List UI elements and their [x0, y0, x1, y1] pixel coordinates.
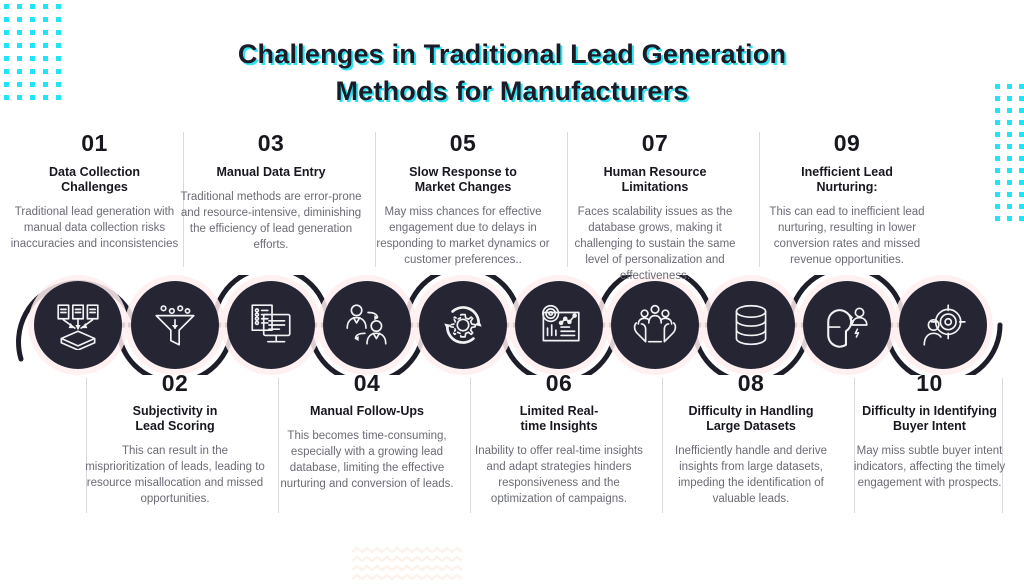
item-number: 07 [563, 130, 748, 156]
content-block-07: 07Human Resource LimitationsFaces scalab… [563, 130, 748, 284]
monitor-data-entry-icon [246, 300, 296, 350]
decorative-dot [30, 17, 35, 22]
item-heading: Manual Follow-Ups [275, 404, 460, 419]
decorative-dot [1019, 156, 1024, 161]
icon-node-04[interactable] [323, 281, 411, 369]
item-number: 01 [2, 130, 187, 156]
infographic-canvas: Challenges in Traditional Lead Generatio… [0, 0, 1024, 585]
item-description: Traditional lead generation with manual … [2, 204, 187, 252]
content-block-10: 10Difficulty in Identifying Buyer Intent… [837, 370, 1022, 491]
item-description: This can ead to inefficient lead nurturi… [755, 204, 940, 268]
decorative-dot [1007, 168, 1012, 173]
item-heading: Difficulty in Identifying Buyer Intent [837, 404, 1022, 434]
decorative-wave-pattern [352, 546, 462, 585]
item-description: This can result in the misprioritization… [83, 443, 268, 507]
content-block-08: 08Difficulty in Handling Large DatasetsI… [659, 370, 844, 507]
decorative-dot [4, 4, 9, 9]
icon-node-01[interactable] [34, 281, 122, 369]
two-people-followup-icon [342, 300, 392, 350]
decorative-dot [30, 4, 35, 9]
icon-node-09[interactable] [803, 281, 891, 369]
decorative-dot [1019, 132, 1024, 137]
decorative-dot [995, 120, 1000, 125]
item-description: May miss chances for effective engagemen… [371, 204, 556, 268]
decorative-dot [56, 30, 61, 35]
wave-line [352, 575, 462, 579]
wave-line [352, 548, 462, 552]
decorative-dot [4, 17, 9, 22]
analytics-dashboard-icon [534, 300, 584, 350]
decorative-dot [1019, 168, 1024, 173]
content-block-03: 03Manual Data EntryTraditional methods a… [179, 130, 364, 253]
wave-line [352, 566, 462, 570]
database-icon [726, 300, 776, 350]
icon-node-08[interactable] [707, 281, 795, 369]
item-heading: Limited Real- time Insights [467, 404, 652, 434]
item-description: Inefficiently handle and derive insights… [659, 443, 844, 507]
icon-node-02[interactable] [131, 281, 219, 369]
decorative-dot [995, 180, 1000, 185]
decorative-dot [43, 17, 48, 22]
content-block-09: 09Inefficient Lead Nurturing:This can ea… [755, 130, 940, 268]
magnet-attract-lead-icon [822, 300, 872, 350]
decorative-dot [1019, 120, 1024, 125]
content-block-02: 02Subjectivity in Lead ScoringThis can r… [83, 370, 268, 507]
item-number: 10 [837, 370, 1022, 396]
decorative-dot [995, 168, 1000, 173]
decorative-dot [995, 132, 1000, 137]
decorative-dot [17, 4, 22, 9]
content-block-04: 04Manual Follow-UpsThis becomes time-con… [275, 370, 460, 492]
icon-node-07[interactable] [611, 281, 699, 369]
item-heading: Slow Response to Market Changes [371, 165, 556, 195]
decorative-dot [56, 17, 61, 22]
decorative-dot [1007, 156, 1012, 161]
decorative-dot [1007, 144, 1012, 149]
content-block-01: 01Data Collection ChallengesTraditional … [2, 130, 187, 252]
decorative-dot [1019, 192, 1024, 197]
funnel-icon [150, 300, 200, 350]
decorative-dot [43, 30, 48, 35]
item-description: Traditional methods are error-prone and … [179, 189, 364, 253]
item-heading: Manual Data Entry [179, 165, 364, 180]
decorative-dot [1019, 180, 1024, 185]
decorative-dot [1007, 204, 1012, 209]
decorative-dot [1019, 144, 1024, 149]
item-description: May miss subtle buyer intent indicators,… [837, 443, 1022, 491]
page-title-line-2: Methods for Manufacturers [0, 73, 1024, 110]
item-number: 03 [179, 130, 364, 156]
item-description: Faces scalability issues as the database… [563, 204, 748, 284]
decorative-dot [995, 144, 1000, 149]
icon-node-03[interactable] [227, 281, 315, 369]
decorative-dot [1019, 216, 1024, 221]
item-number: 08 [659, 370, 844, 396]
decorative-dot [1007, 132, 1012, 137]
decorative-dot [43, 4, 48, 9]
item-number: 02 [83, 370, 268, 396]
icon-node-05[interactable] [419, 281, 507, 369]
page-title: Challenges in Traditional Lead Generatio… [0, 36, 1024, 110]
decorative-dot [4, 30, 9, 35]
hands-holding-people-icon [630, 300, 680, 350]
decorative-dot [17, 30, 22, 35]
icon-node-10[interactable] [899, 281, 987, 369]
content-block-06: 06Limited Real- time InsightsInability t… [467, 370, 652, 507]
item-number: 09 [755, 130, 940, 156]
decorative-dot [1007, 180, 1012, 185]
item-number: 06 [467, 370, 652, 396]
decorative-dot [56, 4, 61, 9]
decorative-dot [1007, 120, 1012, 125]
item-number: 04 [275, 370, 460, 396]
decorative-dot [17, 17, 22, 22]
item-number: 05 [371, 130, 556, 156]
decorative-dot [1019, 204, 1024, 209]
page-title-line-1: Challenges in Traditional Lead Generatio… [0, 36, 1024, 73]
documents-to-tray-icon [53, 300, 103, 350]
item-heading: Human Resource Limitations [563, 165, 748, 195]
item-heading: Difficulty in Handling Large Datasets [659, 404, 844, 434]
decorative-dot [995, 192, 1000, 197]
decorative-dot [995, 156, 1000, 161]
item-description: Inability to offer real-time insights an… [467, 443, 652, 507]
decorative-dot [995, 216, 1000, 221]
item-heading: Data Collection Challenges [2, 165, 187, 195]
decorative-dot [1007, 216, 1012, 221]
target-buyer-intent-icon [918, 300, 968, 350]
content-block-05: 05Slow Response to Market ChangesMay mis… [371, 130, 556, 268]
item-heading: Subjectivity in Lead Scoring [83, 404, 268, 434]
decorative-dot [995, 204, 1000, 209]
decorative-dot [1007, 192, 1012, 197]
wave-line [352, 557, 462, 561]
item-description: This becomes time-consuming, especially … [275, 428, 460, 492]
decorative-dot [30, 30, 35, 35]
icon-node-06[interactable] [515, 281, 603, 369]
gear-refresh-cycle-icon [438, 300, 488, 350]
item-heading: Inefficient Lead Nurturing: [755, 165, 940, 195]
